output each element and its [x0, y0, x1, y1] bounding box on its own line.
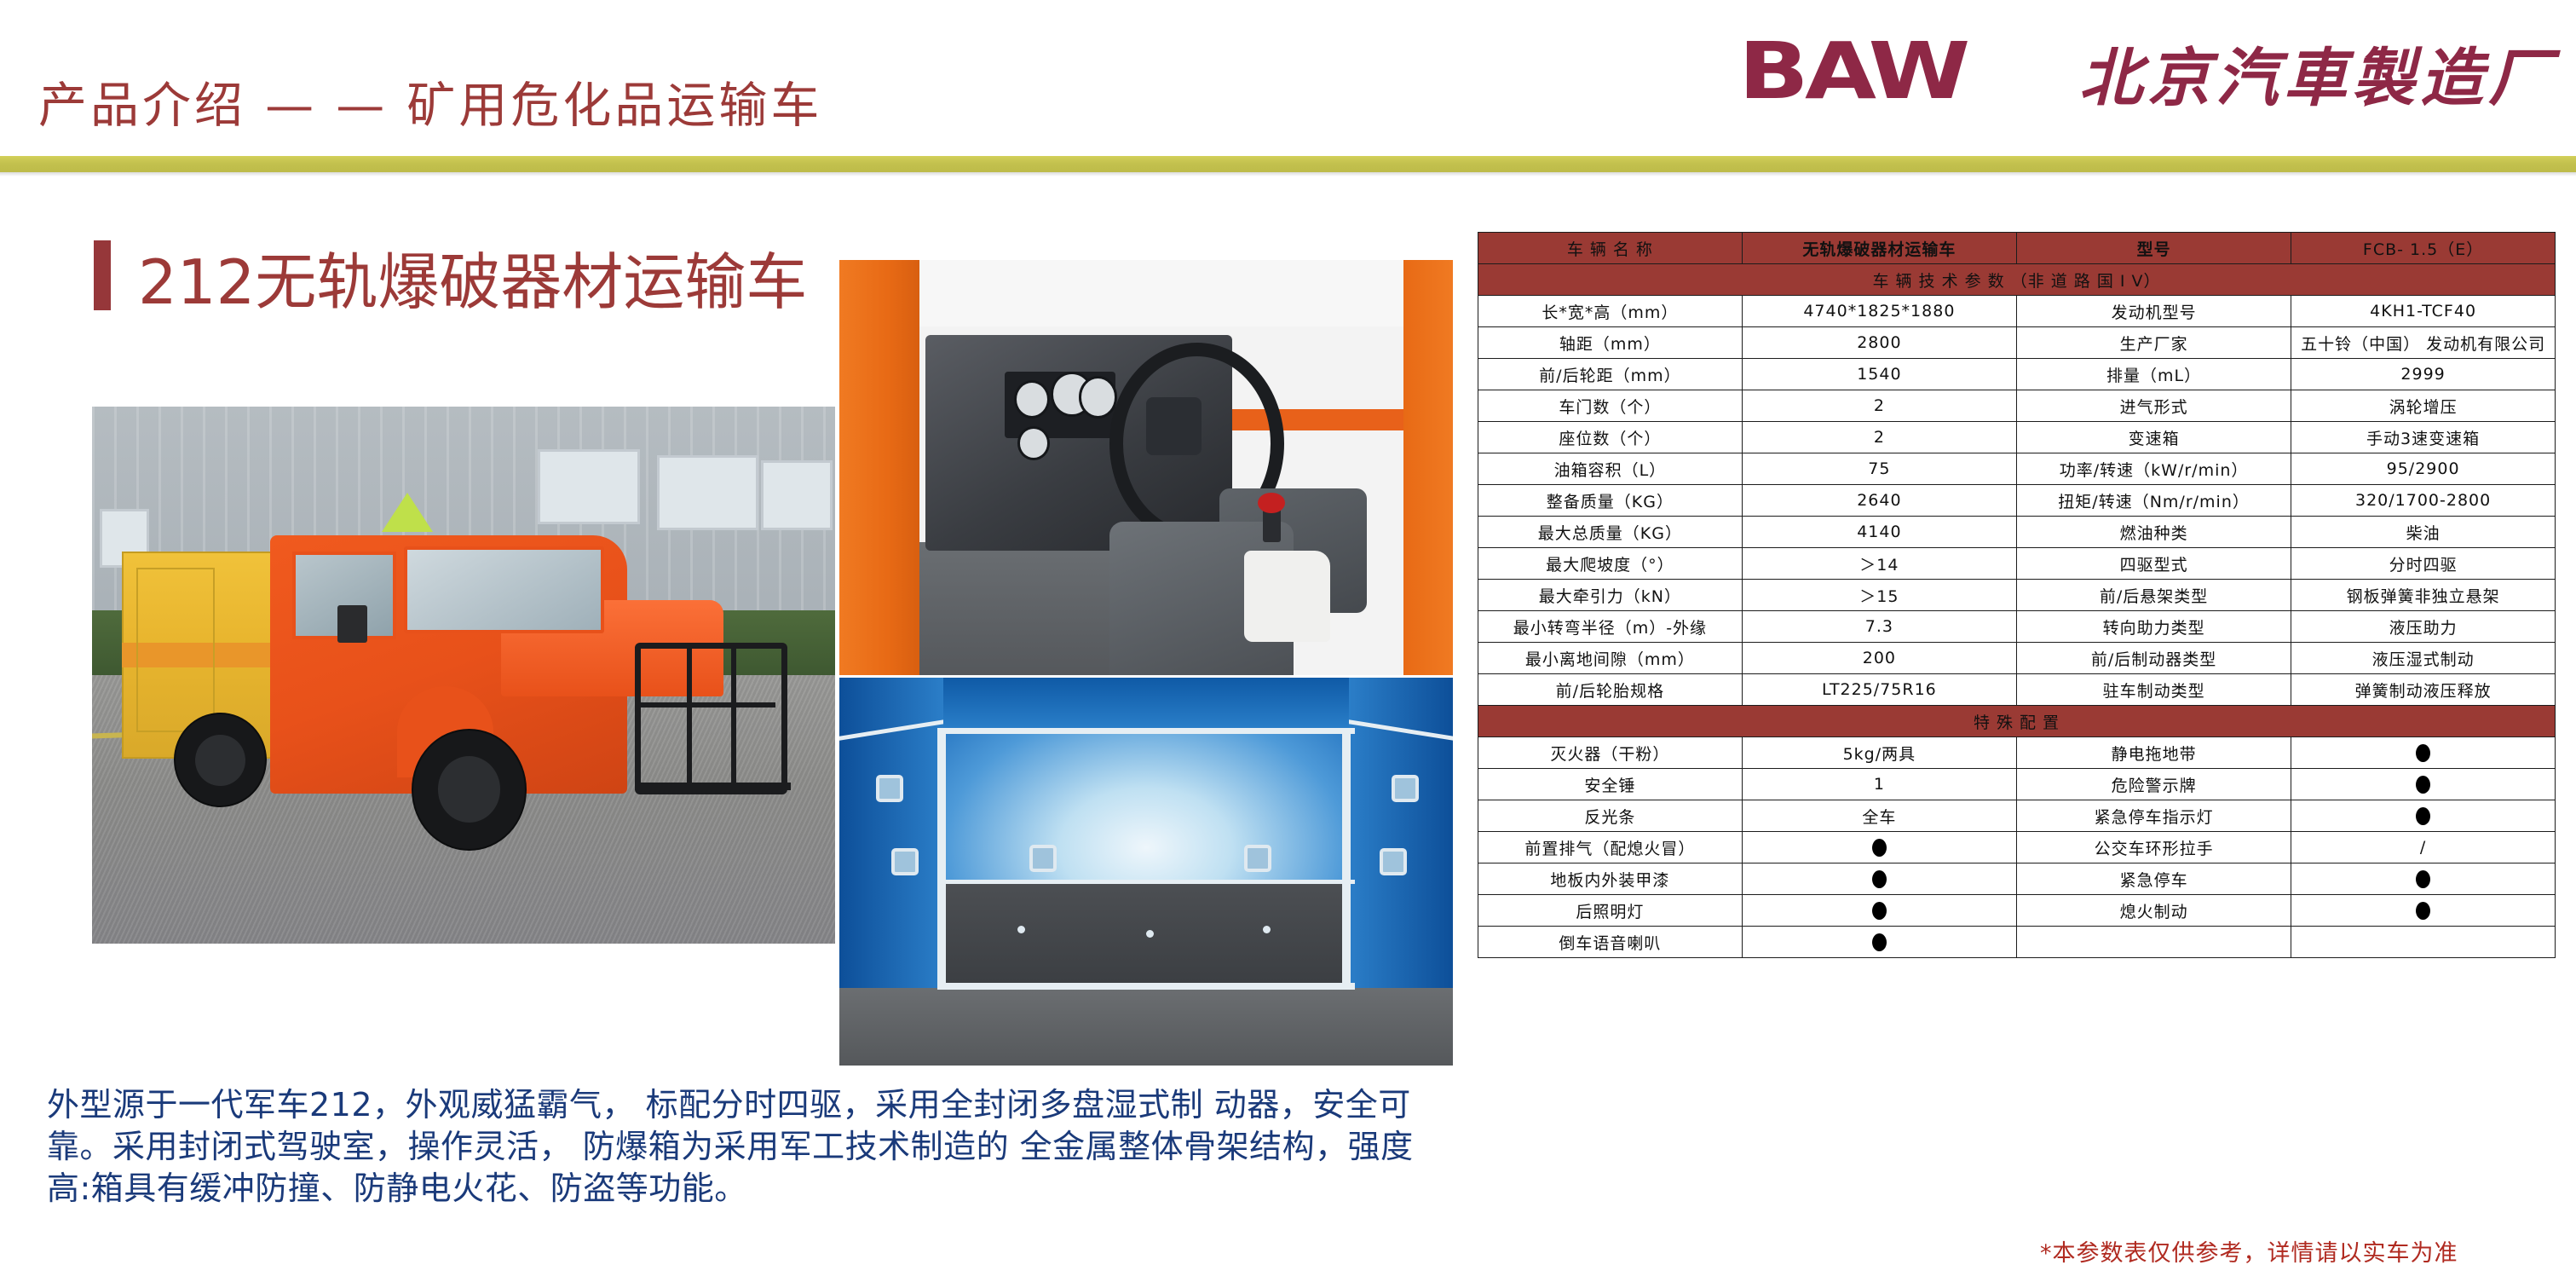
table-cell: 最小离地间隙（mm） [1478, 643, 1743, 674]
feature-label: 熄火制动 [2016, 895, 2291, 927]
table-cell: 1540 [1742, 359, 2016, 390]
table-cell: LT225/75R16 [1742, 674, 2016, 706]
table-cell: 座位数（个） [1478, 422, 1743, 453]
filled-dot-icon [2416, 902, 2430, 920]
feature-label: 反光条 [1478, 800, 1743, 832]
special-band-row: 特 殊 配 置 [1478, 706, 2556, 737]
filled-dot-icon [1872, 902, 1887, 920]
wall-window [657, 455, 758, 530]
truck-windshield [404, 546, 604, 634]
table-cell: 五十铃（中国） 发动机有限公司 [2291, 327, 2556, 359]
baw-logo: BAW 北京汽車製造厂 [1738, 32, 2556, 126]
table-cell: 前/后悬架类型 [2016, 580, 2291, 611]
table-row: 前置排气（配熄火冒）公交车环形拉手/ [1478, 832, 2556, 863]
table-cell: 手动3速变速箱 [2291, 422, 2556, 453]
table-cell: 75 [1742, 453, 2016, 485]
special-section-band: 特 殊 配 置 [1478, 706, 2556, 737]
feature-value: 1 [1742, 769, 2016, 800]
table-cell: 进气形式 [2016, 390, 2291, 422]
table-cell: 车门数（个） [1478, 390, 1743, 422]
cargo-corner-rail [1342, 728, 1351, 988]
table-cell: 发动机型号 [2016, 296, 2291, 327]
cargo-corner-rail [937, 728, 946, 988]
truck-bull-bar [635, 643, 788, 794]
table-header-row: 车 辆 名 称 无轨爆破器材运输车 型号 FCB- 1.5（E） [1478, 233, 2556, 264]
bull-bar-post [731, 643, 736, 783]
table-row: 安全锤1危险警示牌 [1478, 769, 2556, 800]
truck-front-wheel [412, 729, 527, 851]
filled-dot-icon [1872, 870, 1887, 888]
tech-band-row: 车 辆 技 术 参 数 （非 道 路 国 I V） [1478, 264, 2556, 296]
page-title: 产品介绍 — — 矿用危化品运输车 [38, 66, 822, 136]
cargo-floor [839, 988, 1453, 1066]
truck-rear-wheel [174, 713, 267, 807]
table-cell: 扭矩/转速（Nm/r/min） [2016, 485, 2291, 517]
table-cell: 油箱容积（L） [1478, 453, 1743, 485]
table-cell: 柴油 [2291, 517, 2556, 548]
feature-value [2291, 863, 2556, 895]
table-row: 最大爬坡度（°）＞14四驱型式分时四驱 [1478, 548, 2556, 580]
table-cell: 7.3 [1742, 611, 2016, 643]
feature-value [2291, 895, 2556, 927]
section-title-accent-bar [94, 240, 111, 310]
brand-wordmark: BAW [1738, 32, 1966, 111]
table-cell: 4KH1-TCF40 [2291, 296, 2556, 327]
feature-label [2016, 927, 2291, 958]
table-row: 前/后轮距（mm）1540排量（mL）2999 [1478, 359, 2556, 390]
table-cell: ＞15 [1742, 580, 2016, 611]
table-cell: 95/2900 [2291, 453, 2556, 485]
table-cell: 2999 [2291, 359, 2556, 390]
table-row: 最大总质量（KG）4140燃油种类柴油 [1478, 517, 2556, 548]
wall-window [761, 460, 833, 530]
table-cell: 4140 [1742, 517, 2016, 548]
table-row: 整备质量（KG）2640扭矩/转速（Nm/r/min）320/1700-2800 [1478, 485, 2556, 517]
hazard-warning-sign-icon [382, 493, 433, 532]
table-cell: 2 [1742, 390, 2016, 422]
wheel-rim [438, 756, 500, 823]
cargo-bottom-rail [937, 983, 1355, 990]
feature-label: 静电拖地带 [2016, 737, 2291, 769]
table-cell: 燃油种类 [2016, 517, 2291, 548]
filled-dot-icon [2416, 776, 2430, 794]
feature-label: 紧急停车 [2016, 863, 2291, 895]
table-cell: 四驱型式 [2016, 548, 2291, 580]
page-header: 产品介绍 — — 矿用危化品运输车 BAW 北京汽車製造厂 [0, 0, 2576, 175]
table-row: 轴距（mm）2800生产厂家五十铃（中国） 发动机有限公司 [1478, 327, 2556, 359]
cargo-top-rail [937, 728, 1355, 734]
filled-dot-icon [1872, 839, 1887, 857]
table-cell: 最大总质量（KG） [1478, 517, 1743, 548]
feature-value: / [2291, 832, 2556, 863]
table-cell: 320/1700-2800 [2291, 485, 2556, 517]
table-row: 油箱容积（L）75功率/转速（kW/r/min）95/2900 [1478, 453, 2556, 485]
tie-down-ring [1380, 848, 1407, 875]
table-cell: 功率/转速（kW/r/min） [2016, 453, 2291, 485]
panel-bolt [1017, 926, 1025, 933]
table-cell: 前/后制动器类型 [2016, 643, 2291, 674]
table-row: 最小转弯半径（m）-外缘7.3转向助力类型液压助力 [1478, 611, 2556, 643]
feature-value [2291, 737, 2556, 769]
feature-label: 安全锤 [1478, 769, 1743, 800]
cab-interior-photo [839, 260, 1453, 675]
table-cell: 最大爬坡度（°） [1478, 548, 1743, 580]
table-cell: 驻车制动类型 [2016, 674, 2291, 706]
header-model-label: 型号 [2016, 233, 2291, 264]
table-cell: 变速箱 [2016, 422, 2291, 453]
specification-table: 车 辆 名 称 无轨爆破器材运输车 型号 FCB- 1.5（E） 车 辆 技 术… [1478, 232, 2556, 958]
feature-label: 地板内外装甲漆 [1478, 863, 1743, 895]
table-cell: 2640 [1742, 485, 2016, 517]
truck-box-door [136, 568, 214, 732]
wheel-rim [195, 735, 245, 786]
bull-bar-post [687, 643, 692, 783]
table-row: 最大牵引力（kN）＞15前/后悬架类型钢板弹簧非独立悬架 [1478, 580, 2556, 611]
table-cell: 长*宽*高（mm） [1478, 296, 1743, 327]
truck-exterior-photo: 危险 [92, 407, 835, 944]
header-model-value: FCB- 1.5（E） [2291, 233, 2556, 264]
feature-value [2291, 927, 2556, 958]
filled-dot-icon [2416, 744, 2430, 762]
table-cell: 液压助力 [2291, 611, 2556, 643]
header-divider-shadow [0, 172, 2576, 176]
table-cell: 排量（mL） [2016, 359, 2291, 390]
header-name-value: 无轨爆破器材运输车 [1742, 233, 2016, 264]
feature-label: 危险警示牌 [2016, 769, 2291, 800]
table-cell: 前/后轮胎规格 [1478, 674, 1743, 706]
feature-value [1742, 832, 2016, 863]
footnote-disclaimer: *本参数表仅供参考，详情请以实车为准 [2040, 1234, 2458, 1268]
interior-body-right [1403, 260, 1453, 675]
spec-table-body: 车 辆 名 称 无轨爆破器材运输车 型号 FCB- 1.5（E） 车 辆 技 术… [1478, 233, 2556, 958]
table-row: 最小离地间隙（mm）200前/后制动器类型液压湿式制动 [1478, 643, 2556, 674]
feature-value [2291, 800, 2556, 832]
feature-value [2291, 769, 2556, 800]
tie-down-ring [891, 848, 919, 875]
table-cell: 钢板弹簧非独立悬架 [2291, 580, 2556, 611]
feature-value [1742, 927, 2016, 958]
feature-label: 公交车环形拉手 [2016, 832, 2291, 863]
table-cell: 最小转弯半径（m）-外缘 [1478, 611, 1743, 643]
cargo-box-interior-photo [839, 678, 1453, 1066]
table-cell: 转向助力类型 [2016, 611, 2291, 643]
table-row: 车门数（个）2进气形式涡轮增压 [1478, 390, 2556, 422]
table-cell: ＞14 [1742, 548, 2016, 580]
table-cell: 整备质量（KG） [1478, 485, 1743, 517]
header-name-label: 车 辆 名 称 [1478, 233, 1743, 264]
feature-label: 灭火器（干粉） [1478, 737, 1743, 769]
table-cell: 分时四驱 [2291, 548, 2556, 580]
table-cell: 前/后轮距（mm） [1478, 359, 1743, 390]
gauge-icon [1017, 426, 1050, 460]
truck-bumper [635, 783, 791, 790]
table-row: 地板内外装甲漆紧急停车 [1478, 863, 2556, 895]
table-cell: 200 [1742, 643, 2016, 674]
feature-value [1742, 863, 2016, 895]
table-cell: 液压湿式制动 [2291, 643, 2556, 674]
wall-window [538, 449, 639, 524]
table-cell: 2800 [1742, 327, 2016, 359]
table-cell: 4740*1825*1880 [1742, 296, 2016, 327]
feature-label: 紧急停车指示灯 [2016, 800, 2291, 832]
table-cell: 2 [1742, 422, 2016, 453]
tie-down-ring [876, 775, 903, 802]
filled-dot-icon [1872, 933, 1887, 951]
gear-knob [1258, 493, 1285, 513]
feature-label: 倒车语音喇叭 [1478, 927, 1743, 958]
feature-value [1742, 895, 2016, 927]
table-cell: 生产厂家 [2016, 327, 2291, 359]
cargo-mid-rail [937, 880, 1355, 884]
feature-value: 全车 [1742, 800, 2016, 832]
product-description: 外型源于一代军车212，外观威猛霸气， 标配分时四驱，采用全封闭多盘湿式制 动器… [47, 1084, 1444, 1210]
brand-chinese-calligraphy: 北京汽車製造厂 [2079, 44, 2556, 113]
tie-down-ring [1029, 845, 1057, 872]
table-cell: 弹簧制动液压释放 [2291, 674, 2556, 706]
filled-dot-icon [2416, 807, 2430, 825]
truck-side-mirror [337, 605, 367, 643]
tech-section-band: 车 辆 技 术 参 数 （非 道 路 国 I V） [1478, 264, 2556, 296]
tie-down-ring [1244, 845, 1271, 872]
filled-dot-icon [2416, 870, 2430, 888]
feature-value: 5kg/两具 [1742, 737, 2016, 769]
table-row: 后照明灯熄火制动 [1478, 895, 2556, 927]
header-divider-bar [0, 156, 2576, 172]
interior-door-panel-left [839, 260, 919, 675]
panel-bolt [1263, 926, 1271, 933]
table-row: 座位数（个）2变速箱手动3速变速箱 [1478, 422, 2556, 453]
feature-label: 前置排气（配熄火冒） [1478, 832, 1743, 863]
seat-cover-cloth [1244, 551, 1330, 642]
table-cell: 轴距（mm） [1478, 327, 1743, 359]
table-row: 反光条全车紧急停车指示灯 [1478, 800, 2556, 832]
table-cell: 涡轮增压 [2291, 390, 2556, 422]
table-row: 灭火器（干粉）5kg/两具静电拖地带 [1478, 737, 2556, 769]
table-row: 倒车语音喇叭 [1478, 927, 2556, 958]
section-title: 212无轨爆破器材运输车 [138, 232, 807, 321]
steering-wheel-hub [1146, 397, 1202, 455]
table-cell: 最大牵引力（kN） [1478, 580, 1743, 611]
panel-bolt [1146, 930, 1154, 938]
table-row: 前/后轮胎规格LT225/75R16驻车制动类型弹簧制动液压释放 [1478, 674, 2556, 706]
table-row: 长*宽*高（mm）4740*1825*1880发动机型号4KH1-TCF40 [1478, 296, 2556, 327]
feature-label: 后照明灯 [1478, 895, 1743, 927]
tie-down-ring [1392, 775, 1419, 802]
interior-background [919, 260, 1404, 326]
bull-bar-rail [635, 702, 776, 708]
